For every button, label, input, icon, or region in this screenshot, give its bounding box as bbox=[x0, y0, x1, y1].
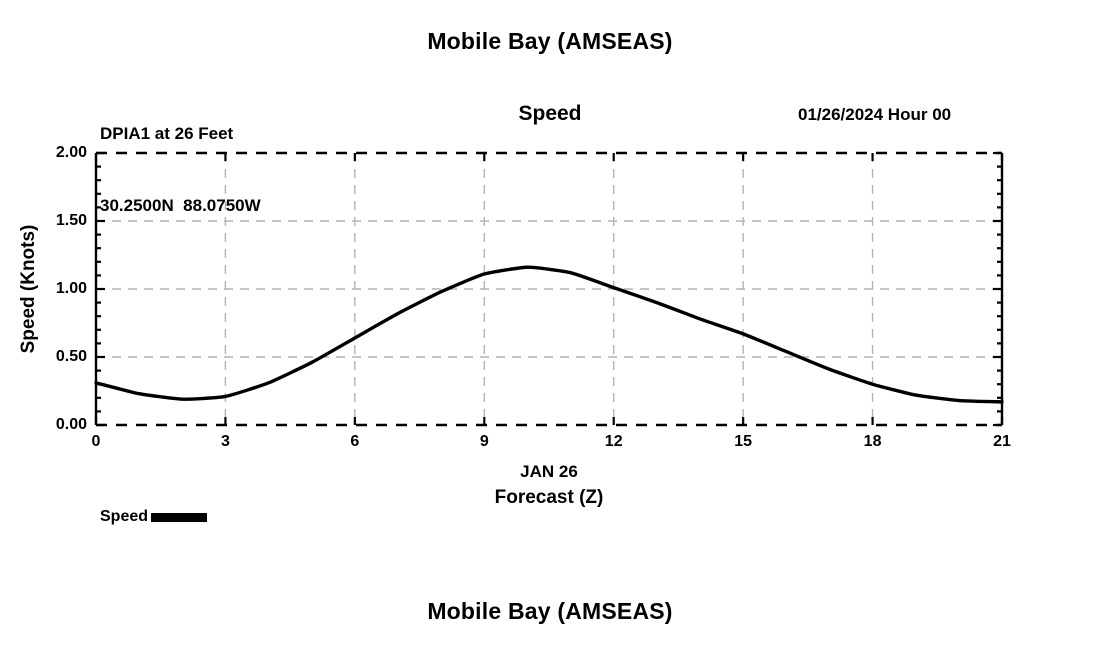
y-tick-label: 1.50 bbox=[56, 212, 87, 230]
x-axis-date-label: JAN 26 bbox=[96, 459, 1002, 485]
legend-line-swatch bbox=[151, 513, 207, 522]
x-tick-label: 9 bbox=[480, 433, 489, 451]
y-tick-label: 2.00 bbox=[56, 144, 87, 162]
series-lines bbox=[96, 267, 1002, 402]
x-axis-label: JAN 26 Forecast (Z) bbox=[96, 459, 1002, 511]
x-axis-title: Forecast (Z) bbox=[96, 485, 1002, 511]
x-tick-label: 0 bbox=[92, 433, 101, 451]
page-title: Mobile Bay (AMSEAS) bbox=[0, 28, 1100, 55]
page-footer-title: Mobile Bay (AMSEAS) bbox=[0, 598, 1100, 625]
forecast-chart-page: Mobile Bay (AMSEAS) DPIA1 at 26 Feet 30.… bbox=[0, 0, 1100, 650]
y-tick-label: 0.50 bbox=[56, 348, 87, 366]
chart-legend: Speed bbox=[100, 508, 207, 526]
chart-canvas bbox=[96, 153, 1002, 425]
y-tick-label: 0.00 bbox=[56, 416, 87, 434]
y-tick-label: 1.00 bbox=[56, 280, 87, 298]
model-run-timestamp: 01/26/2024 Hour 00 bbox=[798, 105, 951, 125]
x-tick-label: 6 bbox=[350, 433, 359, 451]
x-tick-label: 15 bbox=[734, 433, 752, 451]
x-tick-label: 18 bbox=[864, 433, 882, 451]
gridlines bbox=[96, 153, 1002, 425]
x-tick-label: 3 bbox=[221, 433, 230, 451]
x-tick-label: 12 bbox=[605, 433, 623, 451]
y-axis-label: Speed (Knots) bbox=[18, 139, 40, 439]
x-tick-label: 21 bbox=[993, 433, 1011, 451]
legend-entry-label: Speed bbox=[100, 508, 148, 526]
plot-area: Speed (Knots) 0.000.501.001.502.00 03691… bbox=[96, 153, 1002, 425]
